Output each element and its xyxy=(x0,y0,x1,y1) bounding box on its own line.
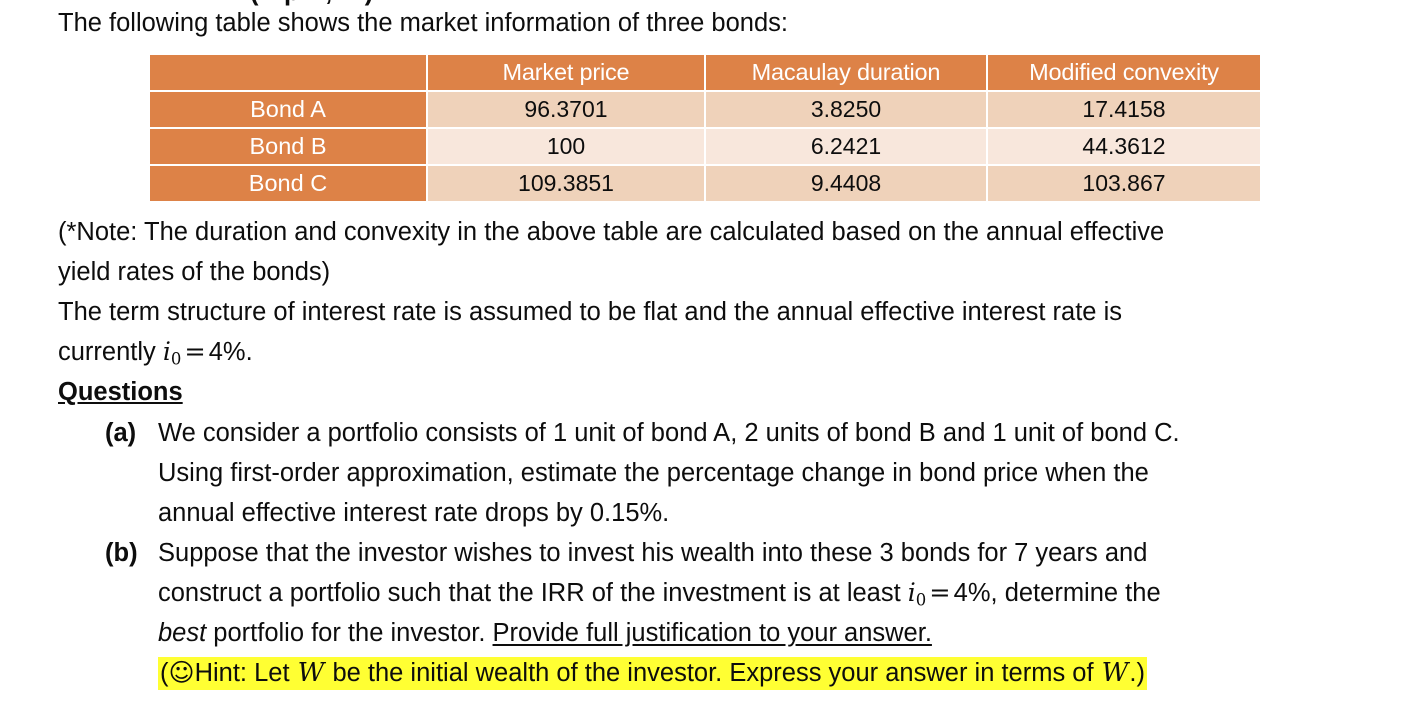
justification-underlined: Provide full justification to your answe… xyxy=(493,619,932,647)
cell-bond-a-modified-convexity: 17.4158 xyxy=(988,92,1260,127)
table-row: Bond C 109.3851 9.4408 103.867 xyxy=(150,166,1260,201)
cell-bond-a-macaulay-duration: 3.8250 xyxy=(706,92,986,127)
hint-open-paren: ( xyxy=(160,659,169,687)
question-a-line-1: We consider a portfolio consists of 1 un… xyxy=(158,413,1180,453)
question-b-line-3: best portfolio for the investor. Provide… xyxy=(158,613,932,653)
wealth-variable-first: W xyxy=(297,658,326,688)
intro-sentence: The following table shows the market inf… xyxy=(58,3,788,43)
cell-bond-b-market-price: 100 xyxy=(428,129,704,164)
table-header-row: Market price Macaulay duration Modified … xyxy=(150,55,1260,90)
note-line-2: yield rates of the bonds) xyxy=(58,252,330,292)
equals-sign: = xyxy=(181,337,208,367)
question-marker-a: (a) xyxy=(105,413,136,453)
question-b-line-2-pre: construct a portfolio such that the IRR … xyxy=(158,579,908,607)
smiley-face-icon: ☺ xyxy=(169,658,195,687)
row-label-bond-b: Bond B xyxy=(150,129,426,164)
cell-bond-c-modified-convexity: 103.867 xyxy=(988,166,1260,201)
interest-rate-symbol: i0 xyxy=(163,337,182,366)
table-header-macaulay-duration: Macaulay duration xyxy=(706,55,986,90)
hint-highlight: (☺Hint: Let W be the initial wealth of t… xyxy=(158,657,1147,690)
assumption-line-1: The term structure of interest rate is a… xyxy=(58,292,1122,332)
hint-pre-text: Hint: Let xyxy=(195,659,297,687)
worksheet-page: (…p…, …) The following table shows the m… xyxy=(0,0,1418,718)
cell-bond-c-macaulay-duration: 9.4408 xyxy=(706,166,986,201)
table-row: Bond A 96.3701 3.8250 17.4158 xyxy=(150,92,1260,127)
assumption-prefix: currently xyxy=(58,338,163,366)
wealth-variable-second: W xyxy=(1101,658,1130,688)
hint-mid-text: be the initial wealth of the investor. E… xyxy=(325,659,1100,687)
irr-rate-symbol: i0 xyxy=(908,578,927,607)
table-row: Bond B 100 6.2421 44.3612 xyxy=(150,129,1260,164)
cell-bond-b-modified-convexity: 44.3612 xyxy=(988,129,1260,164)
hint-close-paren: .) xyxy=(1129,659,1145,687)
question-marker-b: (b) xyxy=(105,533,138,573)
cell-bond-c-market-price: 109.3851 xyxy=(428,166,704,201)
questions-heading: Questions xyxy=(58,372,183,412)
table-header-corner xyxy=(150,55,426,90)
cell-bond-b-macaulay-duration: 6.2421 xyxy=(706,129,986,164)
question-a-line-2: Using first-order approximation, estimat… xyxy=(158,453,1149,493)
question-b-line-1: Suppose that the investor wishes to inve… xyxy=(158,533,1147,573)
question-b-line-3-mid: portfolio for the investor. xyxy=(206,619,492,647)
emphasis-best: best xyxy=(158,619,206,647)
assumption-value: 4%. xyxy=(209,338,253,366)
question-b-hint-line: (☺Hint: Let W be the initial wealth of t… xyxy=(158,653,1147,693)
question-b-line-2-post: 4%, determine the xyxy=(954,579,1161,607)
table-header-modified-convexity: Modified convexity xyxy=(988,55,1260,90)
row-label-bond-a: Bond A xyxy=(150,92,426,127)
question-a-line-3: annual effective interest rate drops by … xyxy=(158,493,669,533)
row-label-bond-c: Bond C xyxy=(150,166,426,201)
equals-sign: = xyxy=(926,578,953,608)
table-header-market-price: Market price xyxy=(428,55,704,90)
cell-bond-a-market-price: 96.3701 xyxy=(428,92,704,127)
bond-information-table: Market price Macaulay duration Modified … xyxy=(148,53,1262,203)
note-line-1: (*Note: The duration and convexity in th… xyxy=(58,212,1164,252)
